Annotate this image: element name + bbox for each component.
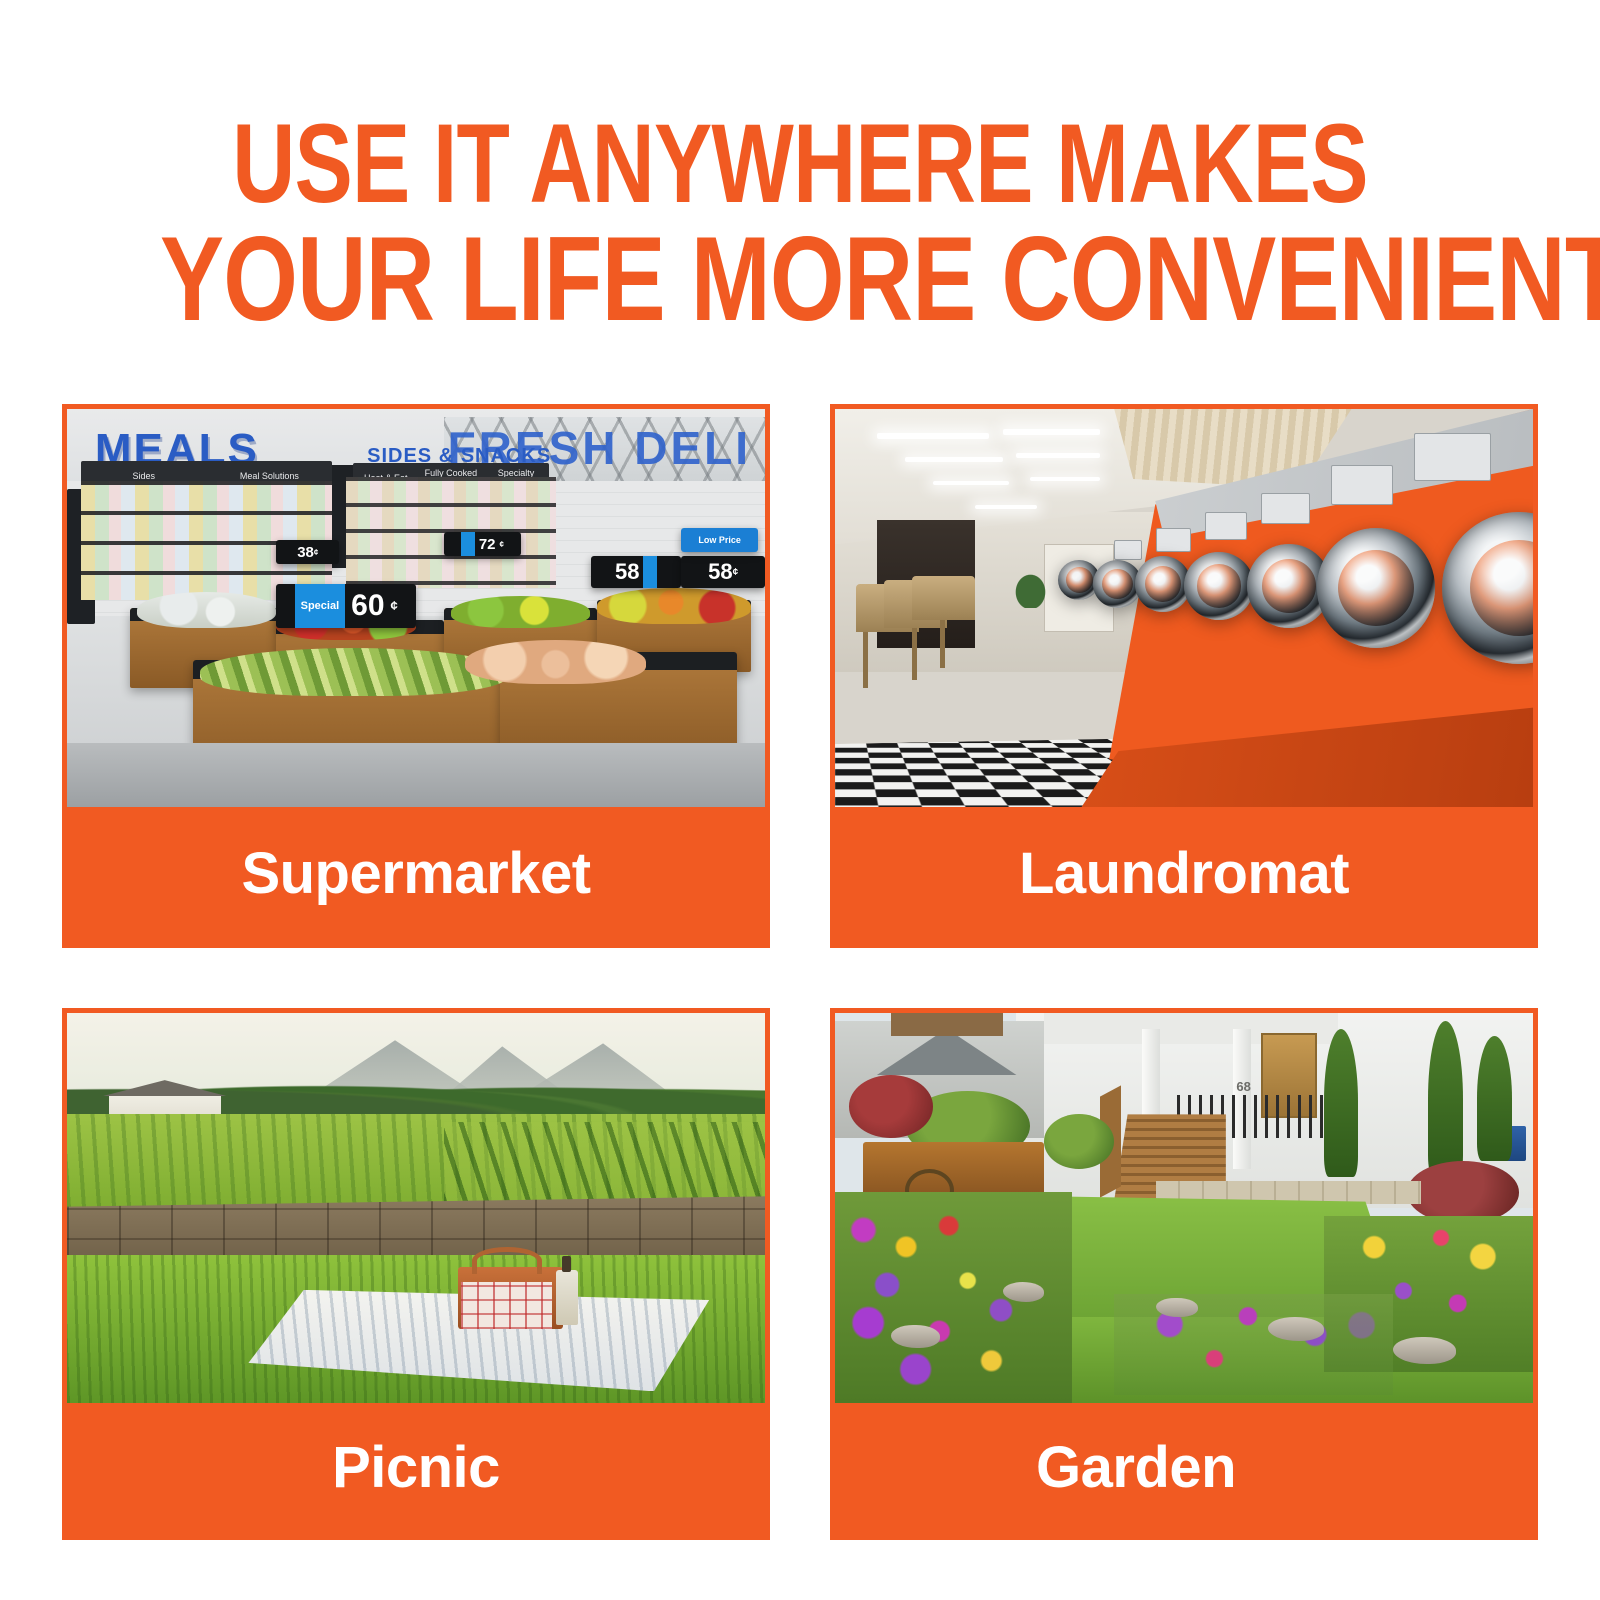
headline-line-1: USE IT ANYWHERE MAKES bbox=[176, 108, 1424, 220]
scenario-grid: MEALS FRESH DELI SIDES & SNACKS Sides Me… bbox=[62, 404, 1538, 1540]
card-caption-picnic: Picnic bbox=[67, 1403, 765, 1535]
price-sign-58b: 58 ¢ bbox=[681, 556, 765, 588]
price-58-unit: ¢ bbox=[733, 567, 739, 578]
card-caption-supermarket: Supermarket bbox=[67, 807, 765, 943]
price-38-value: 38 bbox=[297, 544, 314, 561]
laundromat-scene bbox=[835, 409, 1533, 807]
supermarket-scene: MEALS FRESH DELI SIDES & SNACKS Sides Me… bbox=[67, 409, 765, 807]
garden-photo: 68 bbox=[835, 1013, 1533, 1403]
scenario-card-supermarket[interactable]: MEALS FRESH DELI SIDES & SNACKS Sides Me… bbox=[62, 404, 770, 948]
card-caption-laundromat: Laundromat bbox=[835, 807, 1533, 943]
scenario-card-picnic[interactable]: Picnic bbox=[62, 1008, 770, 1540]
picnic-photo bbox=[67, 1013, 765, 1403]
picnic-scene bbox=[67, 1013, 765, 1403]
price-sign-58a: 58 bbox=[591, 556, 682, 588]
page-title: USE IT ANYWHERE MAKES YOUR LIFE MORE CON… bbox=[0, 108, 1600, 338]
price-sign-38: 38 ¢ bbox=[276, 540, 339, 564]
price-72-unit: ¢ bbox=[500, 540, 504, 549]
price-38-unit: ¢ bbox=[314, 548, 318, 557]
meal-solutions-label: Meal Solutions bbox=[207, 471, 333, 481]
price-58b-value: 58 bbox=[708, 559, 732, 585]
price-sign-72: 72 ¢ bbox=[444, 532, 521, 556]
supermarket-photo: MEALS FRESH DELI SIDES & SNACKS Sides Me… bbox=[67, 409, 765, 807]
price-60-unit: ¢ bbox=[391, 598, 398, 613]
sides-label: Sides bbox=[81, 471, 207, 481]
low-price-tag: Low Price bbox=[681, 528, 758, 552]
card-caption-garden: Garden bbox=[835, 1403, 1533, 1535]
price-58a-value: 58 bbox=[615, 559, 639, 585]
garden-scene: 68 bbox=[835, 1013, 1533, 1403]
scenario-card-laundromat[interactable]: Laundromat bbox=[830, 404, 1538, 948]
laundromat-photo bbox=[835, 409, 1533, 807]
house-number: 68 bbox=[1236, 1079, 1250, 1094]
infographic-page: USE IT ANYWHERE MAKES YOUR LIFE MORE CON… bbox=[0, 0, 1600, 1600]
price-sign-60: Special 60 ¢ bbox=[276, 584, 416, 628]
special-label: Special bbox=[295, 584, 346, 628]
price-72-value: 72 bbox=[475, 536, 500, 553]
headline-line-2: YOUR LIFE MORE CONVENIENT bbox=[160, 220, 1440, 338]
price-60-value: 60 bbox=[345, 589, 390, 623]
scenario-card-garden[interactable]: 68 bbox=[830, 1008, 1538, 1540]
